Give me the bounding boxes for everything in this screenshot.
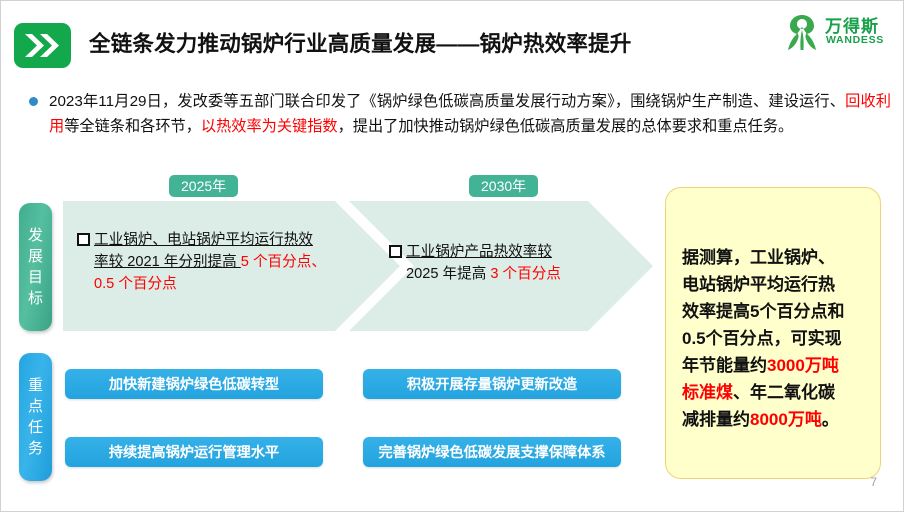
callout-line-5-highlight: 3000万吨 (767, 356, 839, 375)
estimate-callout-box: 据测算，工业锅炉、 电站锅炉平均运行热 效率提高5个百分点和 0.5个百分点，可… (665, 187, 881, 479)
callout-line-3: 效率提高5个百分点和 (682, 302, 844, 321)
milestone-badge-2025: 2025年 (169, 175, 238, 197)
goal-1-line1: 工业锅炉、电站锅炉平均运行热效 (94, 232, 313, 248)
checkbox-square-icon (77, 233, 90, 246)
estimate-callout-text: 据测算，工业锅炉、 电站锅炉平均运行热 效率提高5个百分点和 0.5个百分点，可… (682, 244, 868, 433)
logo-en-name: WANDESS (826, 34, 884, 46)
page-number: 7 (870, 475, 877, 489)
double-chevron-right-glyph (23, 32, 62, 59)
goal-2-line1: 工业锅炉产品热效率较 (406, 244, 552, 260)
sidebar-tab-development-goals[interactable]: 发展目标 (19, 203, 52, 331)
intro-text: 2023年11月29日，发改委等五部门联合印发了《锅炉绿色低碳高质量发展行动方案… (49, 89, 891, 139)
goals-arrow-band: 工业锅炉、电站锅炉平均运行热效 率较 2021 年分别提高 5 个百分点、 0.… (63, 201, 653, 331)
callout-line-6-highlight: 标准煤 (682, 383, 733, 402)
callout-line-4: 0.5个百分点，可实现 (682, 329, 842, 348)
sidebar-tab-goals-label: 发展目标 (27, 225, 44, 309)
intro-seg-5: ，提出了加快推动锅炉绿色低碳高质量发展的总体要求和重点任务。 (338, 118, 794, 135)
checkbox-square-icon (389, 245, 402, 258)
goal-1-line2: 率较 2021 年分别提高 (94, 254, 241, 270)
intro-seg-1: 2023年11月29日，发改委等五部门联合印发了《锅炉绿色低碳高质量发展行动方案… (49, 93, 845, 110)
intro-paragraph: 2023年11月29日，发改委等五部门联合印发了《锅炉绿色低碳高质量发展行动方案… (29, 89, 891, 139)
sidebar-tab-key-tasks[interactable]: 重点任务 (19, 353, 52, 481)
callout-line-1: 据测算，工业锅炉、 (682, 248, 835, 267)
callout-line-7-end: 。 (822, 410, 839, 429)
slide-header: 全链条发力推动锅炉行业高质量发展——锅炉热效率提升 万得斯 WANDESS (1, 1, 904, 79)
goal-1-line3-highlight: 0.5 个百分点 (94, 276, 177, 292)
callout-line-7: 减排量约 (682, 410, 750, 429)
goal-2-line2-highlight: 3 个百分点 (490, 266, 561, 282)
page-title: 全链条发力推动锅炉行业高质量发展——锅炉热效率提升 (89, 27, 749, 58)
brand-logo: 万得斯 WANDESS (785, 11, 895, 57)
task-button-1[interactable]: 加快新建锅炉绿色低碳转型 (65, 369, 323, 399)
wandess-plant-logo-icon (785, 14, 819, 52)
double-chevron-right-icon (14, 23, 71, 68)
sidebar-tab-tasks-label: 重点任务 (27, 375, 44, 459)
intro-seg-4-highlight: 以热效率为关键指数 (201, 118, 338, 135)
goal-item-1-text: 工业锅炉、电站锅炉平均运行热效 率较 2021 年分别提高 5 个百分点、 0.… (94, 229, 333, 295)
task-button-2[interactable]: 积极开展存量锅炉更新改造 (363, 369, 621, 399)
callout-line-5: 年节能量约 (682, 356, 767, 375)
callout-line-2: 电站锅炉平均运行热 (682, 275, 835, 294)
task-button-3[interactable]: 持续提高锅炉运行管理水平 (65, 437, 323, 467)
slide-canvas: 全链条发力推动锅炉行业高质量发展——锅炉热效率提升 万得斯 WANDESS 20… (0, 0, 904, 512)
goal-item-2: 工业锅炉产品热效率较 2025 年提高 3 个百分点 (389, 241, 599, 285)
goal-item-1: 工业锅炉、电站锅炉平均运行热效 率较 2021 年分别提高 5 个百分点、 0.… (77, 229, 333, 295)
goal-1-line2-highlight: 5 个百分点、 (241, 254, 326, 270)
callout-line-6: 、年二氧化碳 (733, 383, 835, 402)
intro-seg-3: 等全链条和各环节， (64, 118, 201, 135)
task-button-4[interactable]: 完善锅炉绿色低碳发展支撑保障体系 (363, 437, 621, 467)
callout-line-7-highlight: 8000万吨 (750, 410, 822, 429)
goal-2-line2: 2025 年提高 (406, 266, 490, 282)
goal-item-2-text: 工业锅炉产品热效率较 2025 年提高 3 个百分点 (406, 241, 599, 285)
milestone-badge-2030: 2030年 (469, 175, 538, 197)
bullet-dot-icon (29, 97, 38, 106)
